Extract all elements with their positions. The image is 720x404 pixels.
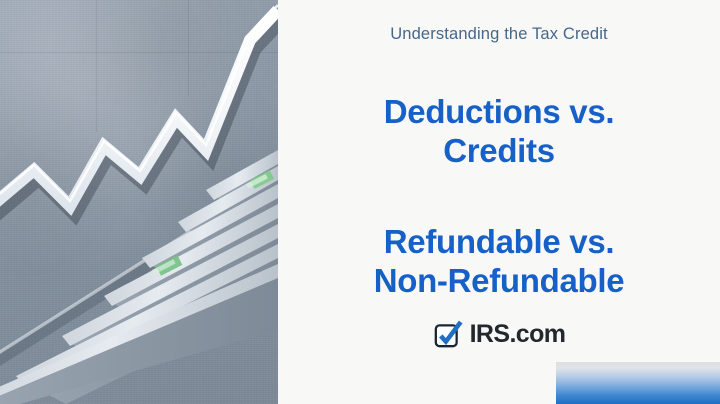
headline-line: Credits [278,131,720,170]
irs-logo: IRS.com [278,320,720,349]
hero-photo [0,0,278,404]
slide-canvas: Understanding the Tax Credit Deductions … [0,0,720,404]
content-panel: Understanding the Tax Credit Deductions … [278,0,720,404]
headline-line: Non-Refundable [278,261,720,300]
concrete-stairs [0,0,278,404]
slide-subtitle: Understanding the Tax Credit [278,25,720,44]
irs-wordmark: IRS.com [470,320,566,349]
bottom-accent-bar [556,362,720,404]
checkbox-check-icon [433,319,463,349]
headline-deductions-vs-credits: Deductions vs. Credits [278,92,720,170]
headline-line: Refundable vs. [278,222,720,261]
headline-refundable-vs-non-refundable: Refundable vs. Non-Refundable [278,222,720,300]
headline-line: Deductions vs. [278,92,720,131]
